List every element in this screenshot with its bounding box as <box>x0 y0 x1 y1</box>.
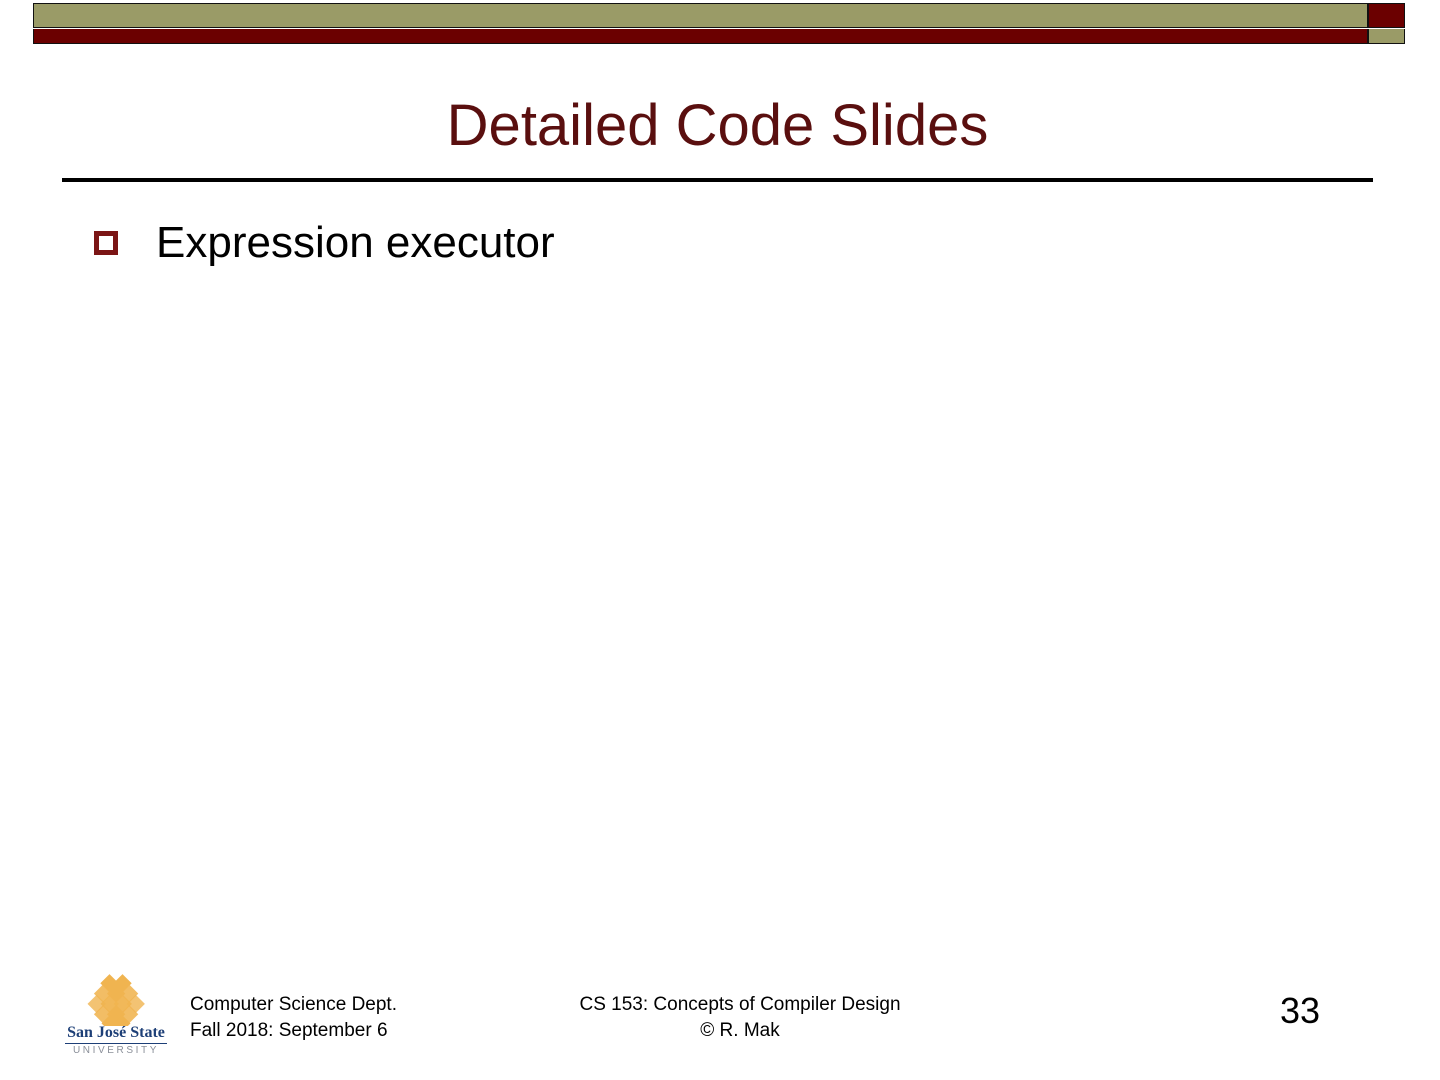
slide-footer: San José State UNIVERSITY Computer Scien… <box>0 960 1440 1070</box>
footer-course-text: CS 153: Concepts of Compiler Design <box>470 992 1010 1018</box>
footer-center-block: CS 153: Concepts of Compiler Design © R.… <box>470 992 1010 1044</box>
slide-page-number: 33 <box>1230 990 1370 1032</box>
header-bar-olive <box>33 3 1368 28</box>
sjsu-subwordmark-text: UNIVERSITY <box>62 1044 170 1057</box>
header-decoration <box>0 0 1440 48</box>
hollow-square-bullet-icon <box>94 231 118 255</box>
sjsu-wordmark-text: San José State <box>62 1024 170 1042</box>
slide-body: Expression executor <box>62 214 1373 286</box>
header-bar-maroon <box>33 29 1368 44</box>
bullet-item: Expression executor <box>62 214 1373 272</box>
title-divider-rule <box>62 178 1373 182</box>
sjsu-diamond-rosette-icon <box>76 974 156 1026</box>
header-corner-block-olive <box>1368 29 1405 44</box>
bullet-item-label: Expression executor <box>156 214 555 272</box>
sjsu-logo: San José State UNIVERSITY <box>62 974 170 1064</box>
footer-copyright-text: © R. Mak <box>470 1018 1010 1044</box>
header-corner-block-maroon <box>1368 3 1405 28</box>
slide-title: Detailed Code Slides <box>62 92 1373 160</box>
